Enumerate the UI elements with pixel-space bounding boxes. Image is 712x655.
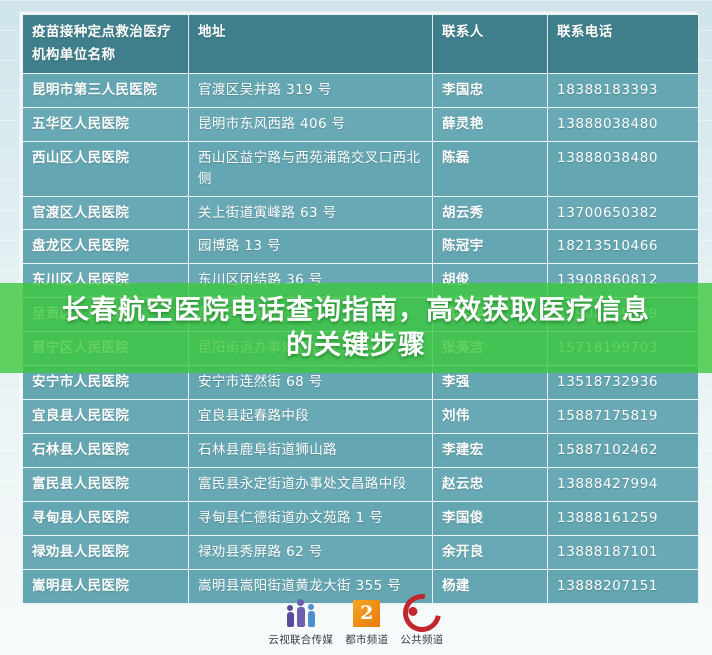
table-header-row: 疫苗接种定点救治医疗机构单位名称 地址 联系人 联系电话 (23, 15, 699, 74)
page-root: 疫苗接种定点救治医疗机构单位名称 地址 联系人 联系电话 昆明市第三人民医院官渡… (0, 0, 712, 655)
col-header-contact: 联系人 (433, 15, 548, 74)
cell-phone: 18213510466 (548, 230, 699, 264)
cell-unit: 官渡区人民医院 (23, 196, 189, 230)
table-row: 西山区人民医院西山区益宁路与西苑浦路交叉口西北侧陈磊13888038480 (23, 141, 699, 196)
table-row: 呈贡区人民医院呈贡区雨燕路 9 号储平坤15908509189 (23, 298, 699, 332)
cell-phone: 13700650382 (548, 196, 699, 230)
cell-unit: 东川区人民医院 (23, 264, 189, 298)
vaccination-hospital-table-wrapper: 疫苗接种定点救治医疗机构单位名称 地址 联系人 联系电话 昆明市第三人民医院官渡… (20, 12, 696, 606)
cell-phone: 18388183393 (548, 73, 699, 107)
table-row: 昆明市第三人民医院官渡区吴井路 319 号李国忠18388183393 (23, 73, 699, 107)
cell-contact: 余开良 (433, 535, 548, 569)
cell-contact: 李强 (433, 366, 548, 400)
cell-address: 禄劝县秀屏路 62 号 (189, 535, 433, 569)
cell-unit: 禄劝县人民医院 (23, 535, 189, 569)
logo-caption-gonggong: 公共频道 (400, 632, 443, 647)
table-body: 昆明市第三人民医院官渡区吴井路 319 号李国忠18388183393五华区人民… (23, 73, 699, 603)
col-header-address: 地址 (189, 15, 433, 74)
table-row: 东川区人民医院东川区团结路 36 号胡俊13908860812 (23, 264, 699, 298)
table-row: 官渡区人民医院关上街道寅峰路 63 号胡云秀13700650382 (23, 196, 699, 230)
table-row: 富民县人民医院富民县永定街道办事处文昌路中段赵云忠13888427994 (23, 467, 699, 501)
logo-group-gonggong: 公共频道 (394, 597, 449, 647)
cell-address: 东川区团结路 36 号 (189, 264, 433, 298)
cell-phone: 13888427994 (548, 467, 699, 501)
cell-phone: 13888038480 (548, 141, 699, 196)
cell-phone: 13888038480 (548, 107, 699, 141)
cell-contact: 李建宏 (433, 434, 548, 468)
table-row: 宜良县人民医院宜良县起春路中段刘伟15887175819 (23, 400, 699, 434)
cell-contact: 刘伟 (433, 400, 548, 434)
table-row: 五华区人民医院昆明市东风西路 406 号薛灵艳13888038480 (23, 107, 699, 141)
table-row: 晋宁区人民医院昆阳街道办事处府前路 36 号张美洁15718199703 (23, 332, 699, 366)
logo-caption-dushi: 都市频道 (345, 632, 388, 647)
table-row: 安宁市人民医院安宁市连然街 68 号李强13518732936 (23, 366, 699, 400)
cell-unit: 晋宁区人民医院 (23, 332, 189, 366)
cell-contact: 张美洁 (433, 332, 548, 366)
cell-contact: 李国忠 (433, 73, 548, 107)
gonggong-logo-icon (403, 597, 441, 629)
cell-phone: 13908860812 (548, 264, 699, 298)
cell-unit: 富民县人民医院 (23, 467, 189, 501)
table-row: 盘龙区人民医院园博路 13 号陈冠宇18213510466 (23, 230, 699, 264)
vaccination-hospital-table: 疫苗接种定点救治医疗机构单位名称 地址 联系人 联系电话 昆明市第三人民医院官渡… (22, 14, 699, 604)
cell-contact: 李国俊 (433, 501, 548, 535)
cell-phone: 15887175819 (548, 400, 699, 434)
table-row: 石林县人民医院石林县鹿阜街道狮山路李建宏15887102462 (23, 434, 699, 468)
cell-address: 寻甸县仁德街道办文苑路 1 号 (189, 501, 433, 535)
cell-unit: 安宁市人民医院 (23, 366, 189, 400)
cell-contact: 储平坤 (433, 298, 548, 332)
cell-address: 呈贡区雨燕路 9 号 (189, 298, 433, 332)
cell-address: 关上街道寅峰路 63 号 (189, 196, 433, 230)
dushi-mark-text: 2 (353, 600, 380, 627)
cell-phone: 15908509189 (548, 298, 699, 332)
cell-phone: 13888187101 (548, 535, 699, 569)
cell-address: 宜良县起春路中段 (189, 400, 433, 434)
cell-address: 昆阳街道办事处府前路 36 号 (189, 332, 433, 366)
cell-contact: 胡云秀 (433, 196, 548, 230)
cell-unit: 五华区人民医院 (23, 107, 189, 141)
cell-address: 昆明市东风西路 406 号 (189, 107, 433, 141)
cell-contact: 陈冠宇 (433, 230, 548, 264)
cell-unit: 宜良县人民医院 (23, 400, 189, 434)
logo-group-yunshi: 云视联合传媒 (262, 597, 339, 647)
col-header-unit: 疫苗接种定点救治医疗机构单位名称 (23, 15, 189, 74)
table-row: 禄劝县人民医院禄劝县秀屏路 62 号余开良13888187101 (23, 535, 699, 569)
cell-phone: 15718199703 (548, 332, 699, 366)
cell-address: 石林县鹿阜街道狮山路 (189, 434, 433, 468)
table-header: 疫苗接种定点救治医疗机构单位名称 地址 联系人 联系电话 (23, 15, 699, 74)
cell-unit: 石林县人民医院 (23, 434, 189, 468)
col-header-phone: 联系电话 (548, 15, 699, 74)
cell-unit: 盘龙区人民医院 (23, 230, 189, 264)
cell-address: 官渡区吴井路 319 号 (189, 73, 433, 107)
cell-unit: 昆明市第三人民医院 (23, 73, 189, 107)
cell-address: 富民县永定街道办事处文昌路中段 (189, 467, 433, 501)
cell-contact: 胡俊 (433, 264, 548, 298)
cell-unit: 寻甸县人民医院 (23, 501, 189, 535)
cell-address: 安宁市连然街 68 号 (189, 366, 433, 400)
cell-phone: 15887102462 (548, 434, 699, 468)
cell-contact: 薛灵艳 (433, 107, 548, 141)
cell-contact: 陈磊 (433, 141, 548, 196)
dushi-logo-icon: 2 (353, 597, 380, 629)
footer-logos: 云视联合传媒 2 都市频道 公共频道 (0, 597, 712, 647)
cell-phone: 13888161259 (548, 501, 699, 535)
logo-caption-yunshi: 云视联合传媒 (268, 632, 333, 647)
cell-address: 西山区益宁路与西苑浦路交叉口西北侧 (189, 141, 433, 196)
logo-group-dushi: 2 都市频道 (339, 597, 394, 647)
cell-address: 园博路 13 号 (189, 230, 433, 264)
cell-contact: 赵云忠 (433, 467, 548, 501)
cell-unit: 呈贡区人民医院 (23, 298, 189, 332)
table-row: 寻甸县人民医院寻甸县仁德街道办文苑路 1 号李国俊13888161259 (23, 501, 699, 535)
cell-phone: 13518732936 (548, 366, 699, 400)
cell-unit: 西山区人民医院 (23, 141, 189, 196)
yunshi-logo-icon (287, 597, 315, 629)
